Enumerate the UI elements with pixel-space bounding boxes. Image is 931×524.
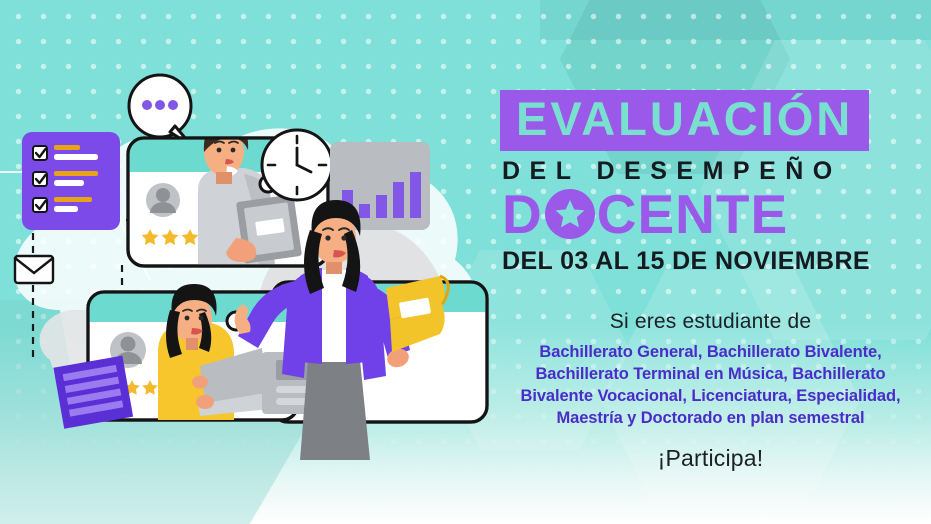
banner-text-column: EVALUACIÓN DEL DESEMPEÑO D CENTE DEL 03 …	[498, 90, 931, 472]
call-to-action: ¡Participa!	[498, 445, 923, 472]
document-icon	[53, 356, 133, 429]
lead-text: Si eres estudiante de	[498, 310, 923, 334]
clock-icon	[262, 130, 332, 200]
docente-letters-cente: CENTE	[597, 187, 788, 242]
headline-evaluacion: EVALUACIÓN	[500, 90, 869, 151]
program-line: Bachillerato Terminal en Música, Bachill…	[498, 364, 923, 386]
program-line: Bivalente Vocacional, Licenciatura, Espe…	[498, 386, 923, 408]
body-text-block: Si eres estudiante de Bachillerato Gener…	[498, 310, 923, 472]
subheadline-del-desempeno: DEL DESEMPEÑO	[498, 157, 931, 186]
education-illustration	[0, 60, 520, 480]
envelope-icon	[15, 256, 53, 283]
star-in-o-icon	[545, 189, 595, 239]
docente-letter-d: D	[502, 187, 543, 242]
event-dates: DEL 03 AL 15 DE NOVIEMBRE	[498, 247, 931, 276]
program-list: Bachillerato General, Bachillerato Bival…	[498, 342, 923, 430]
speech-bubble-icon	[129, 75, 192, 146]
headline-docente: D CENTE	[498, 187, 931, 242]
checklist-card	[22, 132, 120, 230]
promotional-banner: EVALUACIÓN DEL DESEMPEÑO D CENTE DEL 03 …	[0, 0, 931, 524]
program-line: Maestría y Doctorado en plan semestral	[498, 408, 923, 430]
program-line: Bachillerato General, Bachillerato Bival…	[498, 342, 923, 364]
headline-wrapper: EVALUACIÓN	[498, 90, 931, 151]
